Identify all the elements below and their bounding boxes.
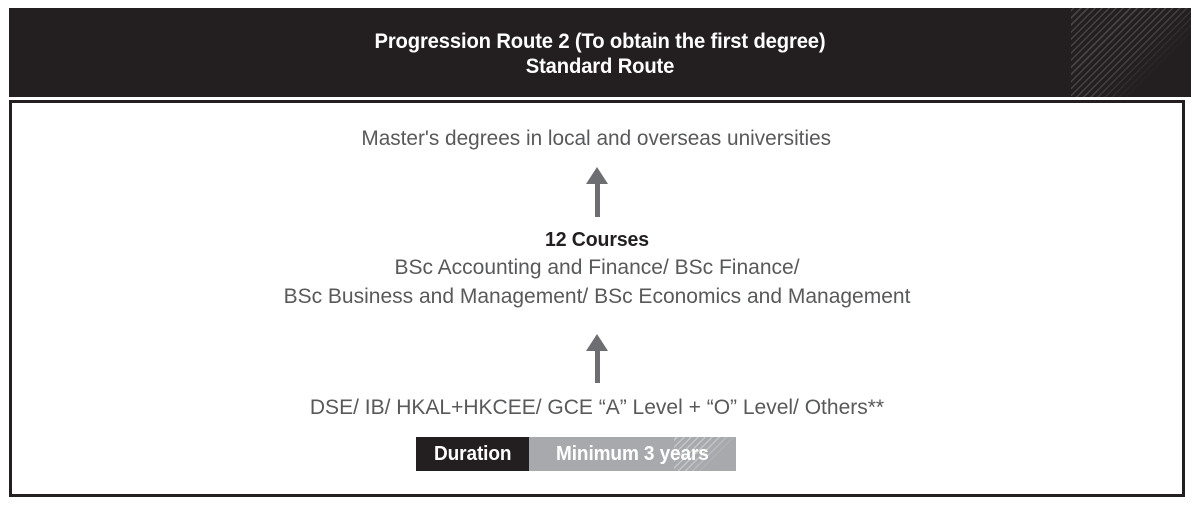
diagram-header-band: Progression Route 2 (To obtain the first… <box>9 8 1191 97</box>
degree-programmes-line-2: BSc Business and Management/ BSc Economi… <box>12 282 1182 311</box>
node-bachelor-degrees: 12 Courses BSc Accounting and Finance/ B… <box>12 227 1182 311</box>
title-line-1: Progression Route 2 (To obtain the first… <box>374 29 825 53</box>
arrow-head-upper <box>586 167 608 184</box>
arrow-up-icon-upper <box>584 167 610 217</box>
arrow-up-icon-lower <box>584 334 610 383</box>
degree-programmes-line-1: BSc Accounting and Finance/ BSc Finance/ <box>12 253 1182 282</box>
entry-qualifications-text: DSE/ IB/ HKAL+HKCEE/ GCE “A” Level + “O”… <box>310 396 884 419</box>
duration-badge: Duration Minimum 3 years <box>416 437 736 471</box>
progression-flow: Master's degrees in local and overseas u… <box>12 103 1182 494</box>
duration-value-text: Minimum 3 years <box>556 443 709 466</box>
arrow-head-lower <box>586 334 608 351</box>
masters-degrees-text: Master's degrees in local and overseas u… <box>361 125 831 152</box>
duration-label-text: Duration <box>434 443 511 466</box>
progression-route-diagram: Progression Route 2 (To obtain the first… <box>0 0 1200 514</box>
node-masters-degrees: Master's degrees in local and overseas u… <box>12 125 1182 152</box>
node-entry-qualifications: DSE/ IB/ HKAL+HKCEE/ GCE “A” Level + “O”… <box>12 394 1182 421</box>
diagram-title: Progression Route 2 (To obtain the first… <box>44 29 1155 79</box>
title-line-2: Standard Route <box>44 54 1155 79</box>
duration-value: Minimum 3 years <box>529 437 736 471</box>
duration-label: Duration <box>416 437 529 471</box>
courses-count-heading: 12 Courses <box>41 227 1153 253</box>
arrow-stem-lower <box>595 351 600 383</box>
diagram-body-frame: Master's degrees in local and overseas u… <box>9 100 1185 497</box>
arrow-stem-upper <box>595 184 600 217</box>
